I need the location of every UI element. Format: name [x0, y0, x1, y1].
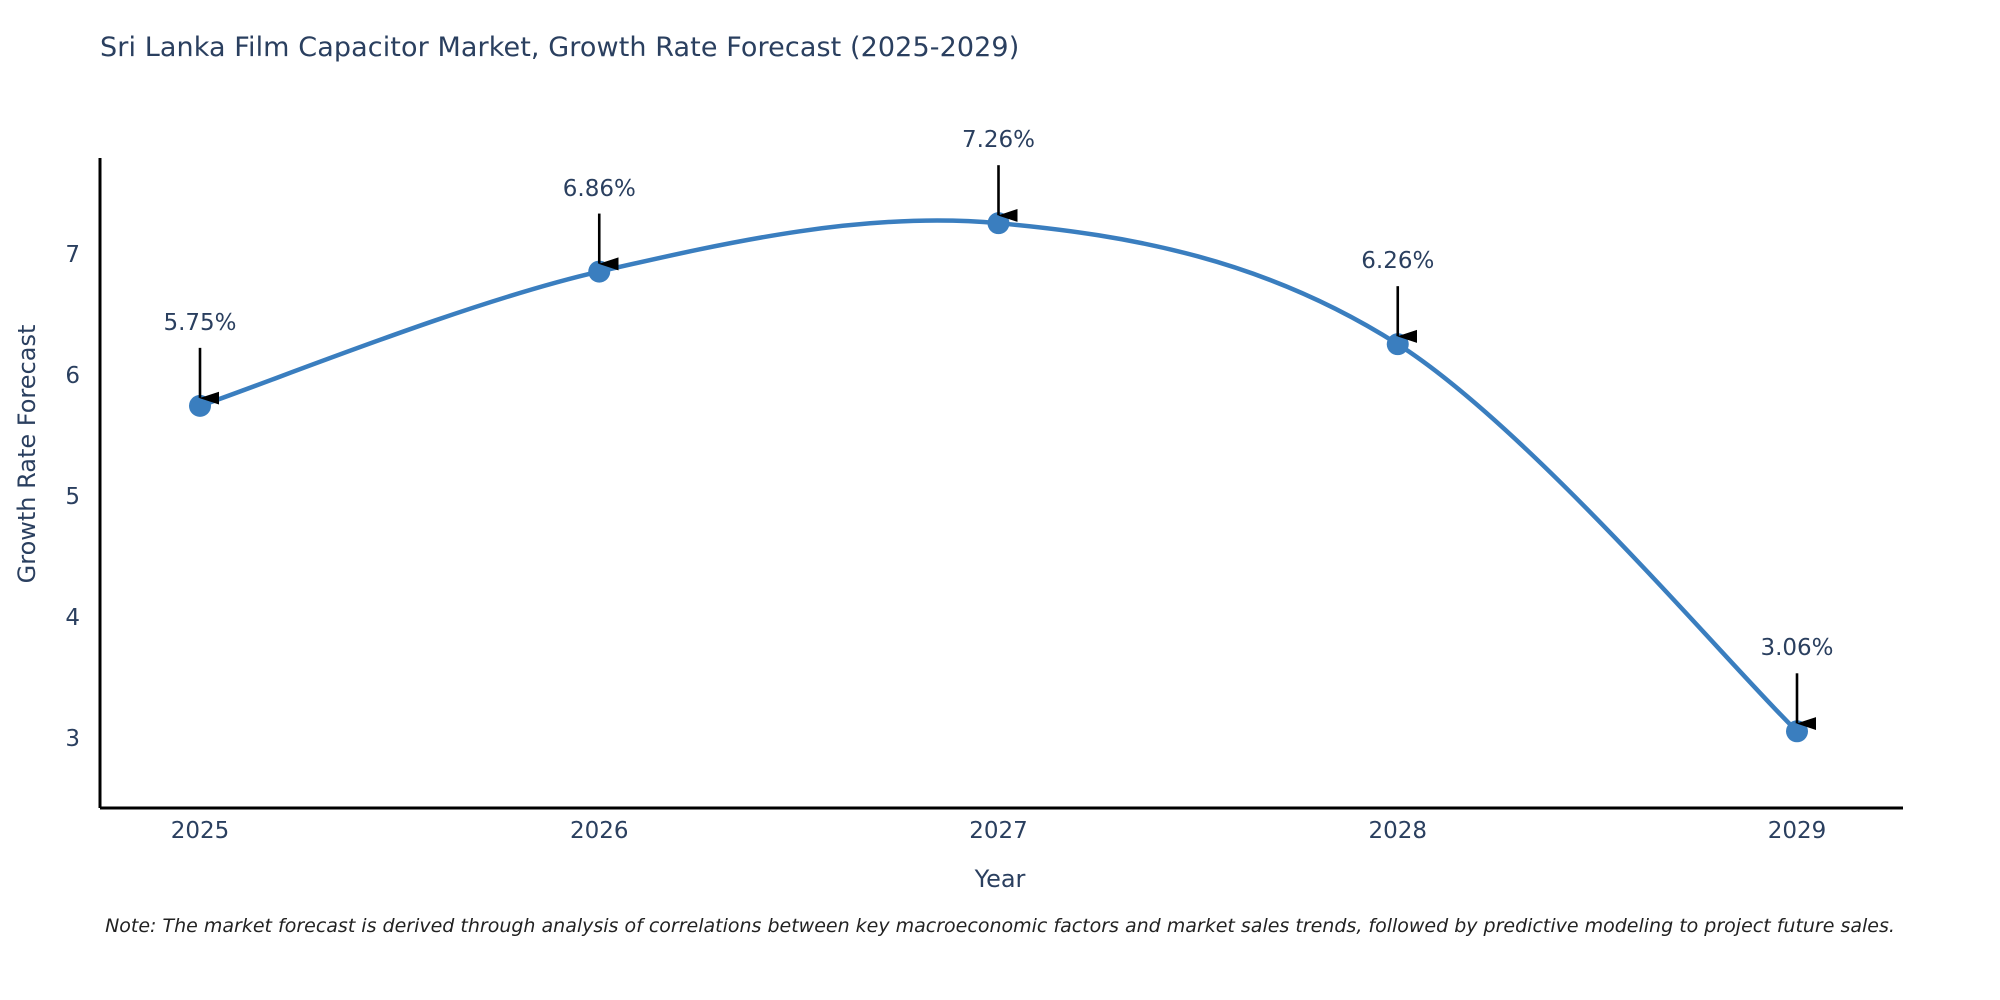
point-annotation-2027: 7.26%	[962, 127, 1035, 153]
point-annotation-2026: 6.86%	[563, 176, 636, 202]
x-tick-label-2025: 2025	[171, 818, 230, 844]
y-tick-label-3: 3	[30, 726, 80, 752]
x-tick-label-2026: 2026	[570, 818, 629, 844]
point-annotation-2028: 6.26%	[1361, 248, 1434, 274]
x-axis-title: Year	[0, 865, 2000, 893]
y-axis-title: Growth Rate Forecast	[13, 244, 41, 664]
data-point-marker[interactable]	[988, 212, 1010, 234]
data-point-marker[interactable]	[588, 261, 610, 283]
point-annotation-2029: 3.06%	[1760, 635, 1833, 661]
x-tick-label-2027: 2027	[969, 818, 1028, 844]
data-point-marker[interactable]	[1387, 333, 1409, 355]
point-annotation-2025: 5.75%	[163, 310, 236, 336]
forecast-line	[200, 220, 1797, 731]
annotation-arrows	[200, 165, 1797, 723]
x-tick-label-2028: 2028	[1369, 818, 1428, 844]
chart-footnote: Note: The market forecast is derived thr…	[0, 915, 2000, 937]
chart-figure: Sri Lanka Film Capacitor Market, Growth …	[0, 0, 2000, 1000]
data-point-marker[interactable]	[189, 395, 211, 417]
data-point-markers	[189, 212, 1808, 742]
data-point-marker[interactable]	[1786, 720, 1808, 742]
x-tick-label-2029: 2029	[1768, 818, 1827, 844]
